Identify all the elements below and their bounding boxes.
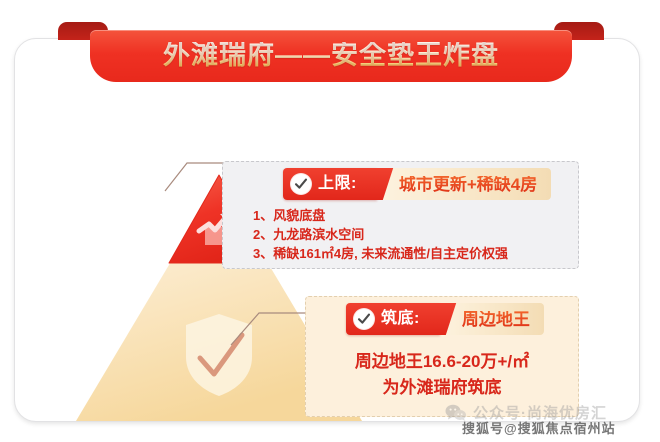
header-ribbon: 外滩瑞府——安全垫王炸盘 bbox=[58, 22, 604, 82]
shield-check-icon bbox=[180, 311, 258, 399]
badge-lower-label: 筑底: bbox=[381, 311, 420, 327]
badge-lower-label-chip: 筑底: bbox=[346, 303, 440, 335]
bullet-item: 3、稀缺161㎡4房, 未来流通性/自主定价权强 bbox=[253, 244, 573, 263]
panel-lower: 筑底: 周边地王 周边地王16.6-20万+/㎡ 为外滩瑞府筑底 bbox=[305, 296, 579, 417]
badge-lower-headline: 周边地王 bbox=[462, 311, 530, 328]
lower-text-line: 周边地王16.6-20万+/㎡ bbox=[306, 349, 578, 375]
page-title: 外滩瑞府——安全垫王炸盘 bbox=[163, 42, 499, 71]
sohu-watermark: 搜狐号@搜狐焦点宿州站 bbox=[462, 418, 616, 437]
check-circle-icon bbox=[353, 308, 375, 330]
badge-upper-label: 上限: bbox=[318, 176, 357, 192]
lower-text-line: 为外滩瑞府筑底 bbox=[306, 375, 578, 401]
bullet-item: 2、九龙路滨水空间 bbox=[253, 225, 573, 244]
bullet-item: 1、风貌底盘 bbox=[253, 206, 573, 225]
badge-row-upper: 上限: 城市更新+稀缺4房 bbox=[283, 168, 551, 200]
lower-text-block: 周边地王16.6-20万+/㎡ 为外滩瑞府筑底 bbox=[306, 349, 578, 401]
panel-upper: 上限: 城市更新+稀缺4房 1、风貌底盘 2、九龙路滨水空间 3、稀缺161㎡4… bbox=[222, 161, 579, 269]
badge-row-lower: 筑底: 周边地王 bbox=[346, 303, 544, 335]
content-card: 上限: 城市更新+稀缺4房 1、风貌底盘 2、九龙路滨水空间 3、稀缺161㎡4… bbox=[14, 38, 640, 422]
screenshot-root: 上限: 城市更新+稀缺4房 1、风貌底盘 2、九龙路滨水空间 3、稀缺161㎡4… bbox=[0, 0, 660, 442]
badge-upper-headline: 城市更新+稀缺4房 bbox=[399, 176, 537, 193]
badge-upper-label-chip: 上限: bbox=[283, 168, 377, 200]
bullet-list-upper: 1、风貌底盘 2、九龙路滨水空间 3、稀缺161㎡4房, 未来流通性/自主定价权… bbox=[253, 206, 573, 263]
check-circle-icon bbox=[290, 173, 312, 195]
badge-upper-headline-chip: 城市更新+稀缺4房 bbox=[375, 168, 551, 200]
ribbon-body: 外滩瑞府——安全垫王炸盘 bbox=[90, 30, 572, 82]
